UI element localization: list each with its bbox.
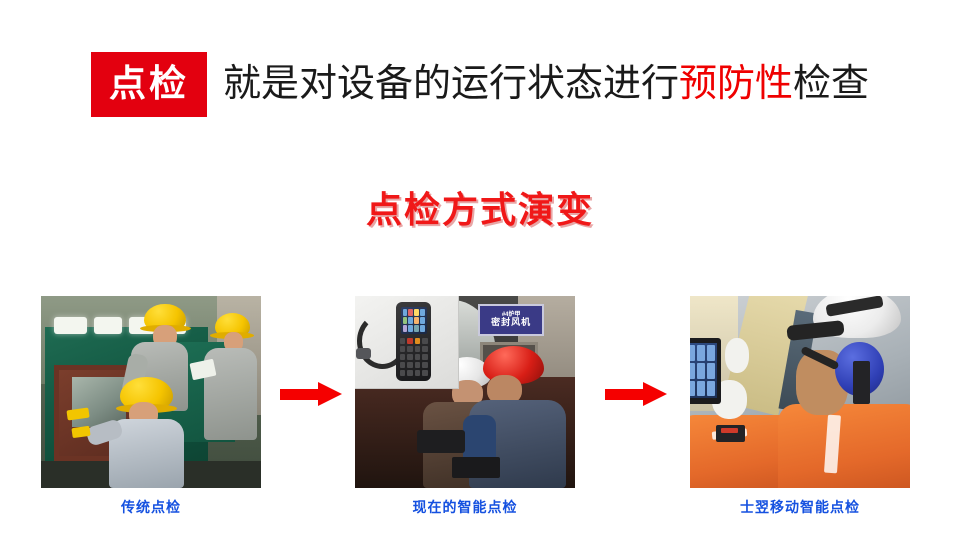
arrow-shaft <box>280 389 320 400</box>
pda-key <box>407 362 413 368</box>
pda-app-icon <box>420 309 425 316</box>
pda-key <box>415 346 421 352</box>
photo-caption-mobile: 士翌移动智能点检 <box>690 500 910 514</box>
photo3-worker-coverall <box>778 404 910 488</box>
pda-key <box>400 354 406 360</box>
pda-key <box>422 338 428 344</box>
pda-key <box>415 338 421 344</box>
headline-text: 就是对设备的运行状态进行预防性检查 <box>223 65 869 103</box>
photo-block-pda: #4炉甲 密封风机 <box>355 296 575 514</box>
pda-app-icon <box>408 317 413 324</box>
terminal-app-icon <box>697 345 705 361</box>
photo2-sign-line-2: 密封风机 <box>491 318 531 327</box>
photo2-pda-keypad <box>400 338 428 376</box>
pda-key <box>407 370 413 376</box>
pda-key <box>415 370 421 376</box>
photo2-pda-device <box>396 302 431 381</box>
slide-canvas: 点检 就是对设备的运行状态进行预防性检查 点检方式演变 <box>0 0 960 533</box>
photo2-handheld-device <box>452 457 500 478</box>
pda-app-icon <box>403 317 408 324</box>
pda-key <box>422 354 428 360</box>
photo3-glove <box>725 338 749 373</box>
headline-badge: 点检 <box>91 52 207 117</box>
section-title: 点检方式演变 <box>0 192 960 228</box>
terminal-app-icon <box>690 381 695 397</box>
photo2-handheld-device-secondary <box>417 430 465 453</box>
pda-key <box>422 370 428 376</box>
terminal-app-icon <box>690 345 695 361</box>
pda-key <box>400 346 406 352</box>
arrow-head <box>643 382 667 406</box>
photo-mobile-smart-inspection <box>690 296 910 488</box>
pda-app-icon <box>420 325 425 332</box>
terminal-app-icon <box>707 381 715 397</box>
pda-key <box>415 362 421 368</box>
photo-block-traditional: 传统点检 <box>41 296 261 514</box>
pda-key <box>400 338 406 344</box>
pda-app-icon <box>408 309 413 316</box>
photo1-window <box>54 317 87 334</box>
photo2-pda-inset <box>355 296 459 389</box>
photo1-window <box>94 317 123 334</box>
pda-app-icon <box>408 325 413 332</box>
arrow-head <box>318 382 342 406</box>
photo3-headset-device <box>853 361 871 403</box>
pda-app-icon <box>420 317 425 324</box>
headline-text-highlight: 预防性 <box>679 63 793 105</box>
pda-key <box>422 362 428 368</box>
terminal-app-icon <box>690 363 695 379</box>
terminal-app-icon <box>697 363 705 379</box>
pda-app-icon <box>403 325 408 332</box>
photo2-pda-connector <box>356 348 370 359</box>
arrow-right-icon <box>280 382 342 406</box>
photo-block-mobile: 士翌移动智能点检 <box>690 296 910 514</box>
photo-traditional-inspection <box>41 296 261 488</box>
terminal-app-icon <box>697 381 705 397</box>
headline-text-before: 就是对设备的运行状态进行 <box>223 63 679 105</box>
pda-key <box>407 346 413 352</box>
pda-app-icon <box>414 309 419 316</box>
pda-key <box>407 354 413 360</box>
pda-app-icon <box>414 317 419 324</box>
arrow-shaft <box>605 389 645 400</box>
photo1-thermal-gun-grip <box>71 425 90 437</box>
photo-caption-pda: 现在的智能点检 <box>355 500 575 514</box>
terminal-app-icon <box>707 345 715 361</box>
photo3-mobile-terminal <box>690 338 721 403</box>
headline: 点检 就是对设备的运行状态进行预防性检查 <box>0 44 960 124</box>
pda-key <box>422 346 428 352</box>
pda-key <box>400 370 406 376</box>
pda-key <box>407 338 413 344</box>
pda-app-icon <box>403 309 408 316</box>
photo3-device-indicator <box>721 428 739 433</box>
pda-key <box>400 362 406 368</box>
photo-row: 传统点检 #4炉甲 密封风机 <box>0 296 960 532</box>
photo2-pda-screen <box>401 307 428 334</box>
pda-key <box>415 354 421 360</box>
photo3-body-device <box>716 425 745 442</box>
photo-caption-traditional: 传统点检 <box>41 500 261 514</box>
photo2-equipment-sign: #4炉甲 密封风机 <box>478 304 544 337</box>
arrow-right-icon <box>605 382 667 406</box>
photo3-terminal-screen <box>690 343 717 398</box>
pda-app-icon <box>414 325 419 332</box>
photo-pda-inspection: #4炉甲 密封风机 <box>355 296 575 488</box>
headline-text-after: 检查 <box>793 63 869 105</box>
terminal-app-icon <box>707 363 715 379</box>
